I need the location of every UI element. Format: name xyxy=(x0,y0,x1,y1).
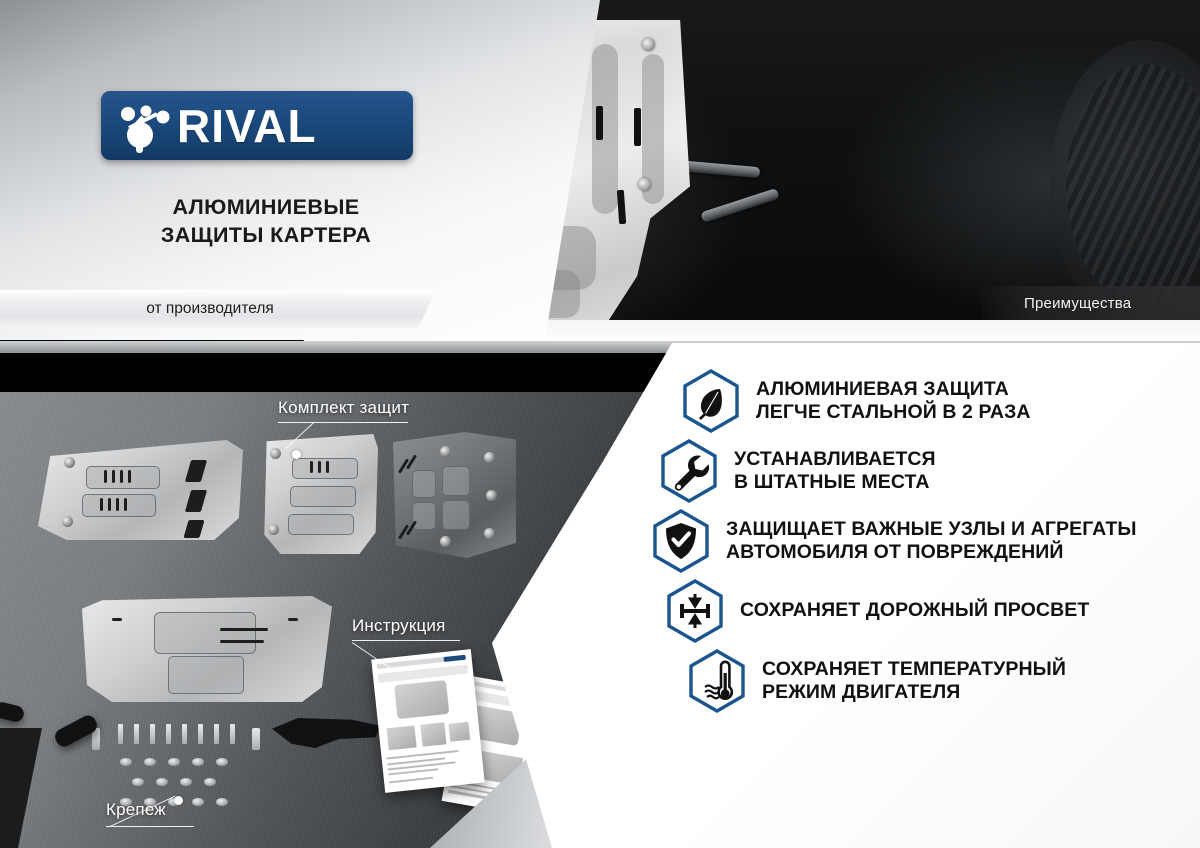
rival-wordmark: RIVAL xyxy=(177,103,317,149)
advantage-item-clearance: СОХРАНЯЕТ ДОРОЖНЫЙ ПРОСВЕТ xyxy=(666,579,1182,643)
tab-advantages[interactable]: Преимущества xyxy=(982,286,1200,320)
instruction-sheet-front xyxy=(371,649,484,793)
advantage-line-1: АЛЮМИНИЕВАЯ ЗАЩИТА xyxy=(756,378,1031,401)
advantage-text-protection: ЗАЩИЩАЕТ ВАЖНЫЕ УЗЛЫ И АГРЕГАТЫ АВТОМОБИ… xyxy=(726,518,1137,565)
advantage-line-1: ЗАЩИЩАЕТ ВАЖНЫЕ УЗЛЫ И АГРЕГАТЫ xyxy=(726,518,1137,541)
skid-plate-square xyxy=(262,434,378,554)
advantage-text-temperature: СОХРАНЯЕТ ТЕМПЕРАТУРНЫЙ РЕЖИМ ДВИГАТЕЛЯ xyxy=(762,658,1066,705)
advantage-item-fitment: УСТАНАВЛИВАЕТСЯ В ШТАТНЫЕ МЕСТА xyxy=(660,439,1182,503)
advantage-line-1: УСТАНАВЛИВАЕТСЯ xyxy=(734,448,936,471)
advantage-line-1: СОХРАНЯЕТ ДОРОЖНЫЙ ПРОСВЕТ xyxy=(740,599,1089,622)
advantage-line-2: В ШТАТНЫЕ МЕСТА xyxy=(734,471,936,494)
skid-plate-angled xyxy=(388,432,516,558)
leaf-icon xyxy=(682,369,740,433)
skid-plate-wide xyxy=(82,596,332,702)
advantage-line-2: ЛЕГЧЕ СТАЛЬНОЙ В 2 РАЗА xyxy=(756,401,1031,424)
tab-advantages-label: Преимущества xyxy=(1024,295,1131,312)
page-title: АЛЮМИНИЕВЫЕ ЗАЩИТЫ КАРТЕРА xyxy=(101,193,431,250)
brand-panel: RIVAL АЛЮМИНИЕВЫЕ ЗАЩИТЫ КАРТЕРА xyxy=(0,0,600,340)
promo-banner: Преимущества xyxy=(0,0,1200,848)
molecule-icon xyxy=(113,98,175,154)
advantage-text-fitment: УСТАНАВЛИВАЕТСЯ В ШТАТНЫЕ МЕСТА xyxy=(734,448,936,495)
subtitle-bar: от производителя xyxy=(0,290,436,328)
headline-line-1: АЛЮМИНИЕВЫЕ xyxy=(101,193,431,221)
callout-label-manual: Инструкция xyxy=(352,616,446,636)
advantage-text-weight: АЛЮМИНИЕВАЯ ЗАЩИТА ЛЕГЧЕ СТАЛЬНОЙ В 2 РА… xyxy=(756,378,1031,425)
ground-clearance-icon xyxy=(666,579,724,643)
advantage-item-temperature: СОХРАНЯЕТ ТЕМПЕРАТУРНЫЙ РЕЖИМ ДВИГАТЕЛЯ xyxy=(688,649,1182,713)
advantage-item-weight: АЛЮМИНИЕВАЯ ЗАЩИТА ЛЕГЧЕ СТАЛЬНОЙ В 2 РА… xyxy=(682,369,1182,433)
subtitle-text: от производителя xyxy=(146,300,290,318)
advantage-line-2: РЕЖИМ ДВИГАТЕЛЯ xyxy=(762,681,1066,704)
advantage-line-1: СОХРАНЯЕТ ТЕМПЕРАТУРНЫЙ xyxy=(762,658,1066,681)
advantage-text-clearance: СОХРАНЯЕТ ДОРОЖНЫЙ ПРОСВЕТ xyxy=(740,599,1089,622)
skid-plate-long xyxy=(38,440,243,540)
callout-label-set: Комплект защит xyxy=(278,398,409,418)
callout-label-fasteners: Крепеж xyxy=(106,800,166,820)
shield-check-icon xyxy=(652,509,710,573)
thermometer-icon xyxy=(688,649,746,713)
headline-line-2: ЗАЩИТЫ КАРТЕРА xyxy=(101,221,431,249)
wrench-icon xyxy=(660,439,718,503)
rival-logo[interactable]: RIVAL xyxy=(101,91,413,160)
advantages-list: АЛЮМИНИЕВАЯ ЗАЩИТА ЛЕГЧЕ СТАЛЬНОЙ В 2 РА… xyxy=(682,369,1182,719)
advantage-line-2: АВТОМОБИЛЯ ОТ ПОВРЕЖДЕНИЙ xyxy=(726,541,1137,564)
advantage-item-protection: ЗАЩИЩАЕТ ВАЖНЫЕ УЗЛЫ И АГРЕГАТЫ АВТОМОБИ… xyxy=(652,509,1182,573)
link-rod xyxy=(700,188,779,223)
